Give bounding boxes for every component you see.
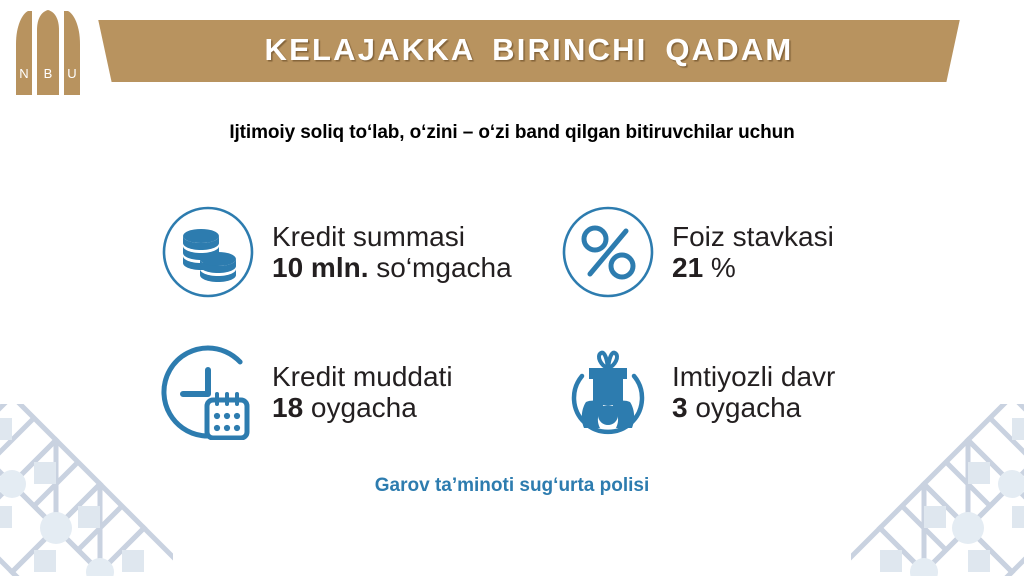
- feature-label: Foiz stavkasi: [672, 221, 834, 252]
- percent-icon: [560, 204, 656, 300]
- feature-label: Kredit muddati: [272, 361, 453, 392]
- header-banner: KELAJAKKA BIRINCHI QADAM: [84, 20, 974, 82]
- coins-icon: [160, 204, 256, 300]
- feature-label: Kredit summasi: [272, 221, 512, 252]
- feature-value-strong: 18: [272, 392, 303, 423]
- feature-grid: Kredit summasi 10 mln. so‘mgacha Foiz st…: [160, 182, 900, 462]
- feature-value: 10 mln. so‘mgacha: [272, 252, 512, 283]
- logo-letter-u: U: [67, 66, 76, 81]
- subtitle-text: Ijtimoiy soliq to‘lab, o‘zini – o‘zi ban…: [0, 122, 1024, 144]
- feature-credit-term-text: Kredit muddati 18 oygacha: [272, 361, 453, 424]
- feature-grace-period-text: Imtiyozli davr 3 oygacha: [672, 361, 835, 424]
- feature-value-rest: oygacha: [688, 392, 802, 423]
- feature-value: 18 oygacha: [272, 392, 453, 423]
- logo-letter-n: N: [19, 66, 28, 81]
- gift-hands-icon: [560, 344, 656, 440]
- clock-calendar-icon: [160, 344, 256, 440]
- feature-value-rest: so‘mgacha: [368, 252, 511, 283]
- footer-note: Garov ta’minoti sug‘urta polisi: [0, 475, 1024, 497]
- feature-value-strong: 21: [672, 252, 703, 283]
- nbu-logo: N B U: [14, 10, 82, 96]
- feature-value: 3 oygacha: [672, 392, 835, 423]
- feature-label: Imtiyozli davr: [672, 361, 835, 392]
- feature-credit-amount: Kredit summasi 10 mln. so‘mgacha: [160, 182, 560, 322]
- feature-credit-amount-text: Kredit summasi 10 mln. so‘mgacha: [272, 221, 512, 284]
- feature-value-strong: 3: [672, 392, 688, 423]
- feature-value-rest: oygacha: [303, 392, 417, 423]
- feature-value-rest: %: [703, 252, 736, 283]
- slide-canvas: N B U KELAJAKKA BIRINCHI QADAM Ijtimoiy …: [0, 0, 1024, 576]
- feature-value-strong: 10 mln.: [272, 252, 368, 283]
- feature-credit-term: Kredit muddati 18 oygacha: [160, 322, 560, 462]
- page-title: KELAJAKKA BIRINCHI QADAM: [84, 20, 974, 82]
- logo-letter-b: B: [44, 66, 53, 81]
- feature-interest-rate: Foiz stavkasi 21 %: [560, 182, 900, 322]
- feature-value: 21 %: [672, 252, 834, 283]
- feature-interest-rate-text: Foiz stavkasi 21 %: [672, 221, 834, 284]
- feature-grace-period: Imtiyozli davr 3 oygacha: [560, 322, 900, 462]
